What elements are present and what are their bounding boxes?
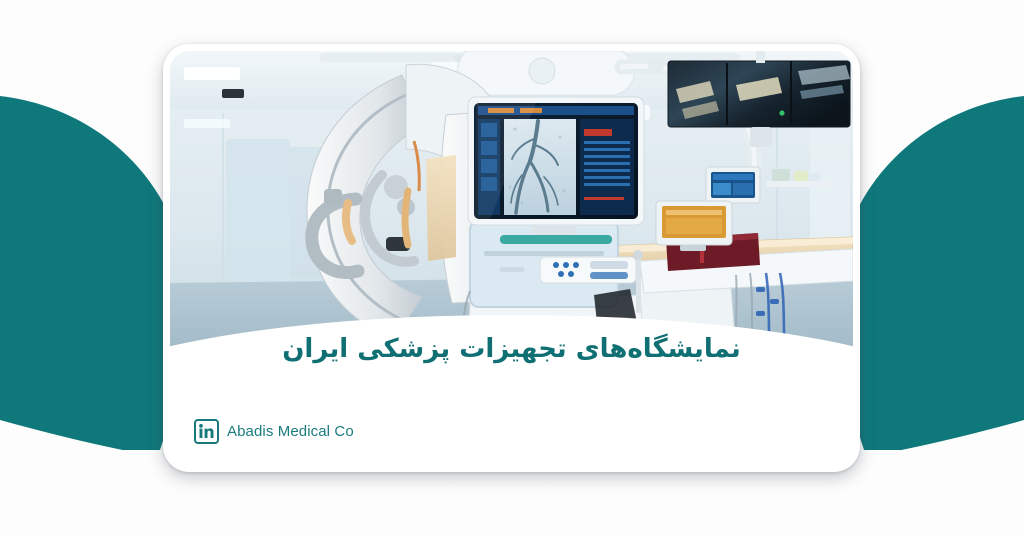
- cath-lab-photo: PHILIPS: [170, 51, 853, 369]
- banner-card-inner: PHILIPS: [170, 51, 853, 465]
- linkedin-in-icon: [194, 419, 219, 444]
- page-title: نمایشگاه‌های تجهیزات پزشکی ایران: [170, 333, 853, 366]
- brand-name: Abadis Medical Co: [227, 423, 354, 440]
- banner-card: PHILIPS: [163, 44, 860, 472]
- caption-area: نمایشگاه‌های تجهیزات پزشکی ایران Abadis …: [170, 345, 853, 465]
- brand-logo[interactable]: Abadis Medical Co: [194, 419, 354, 444]
